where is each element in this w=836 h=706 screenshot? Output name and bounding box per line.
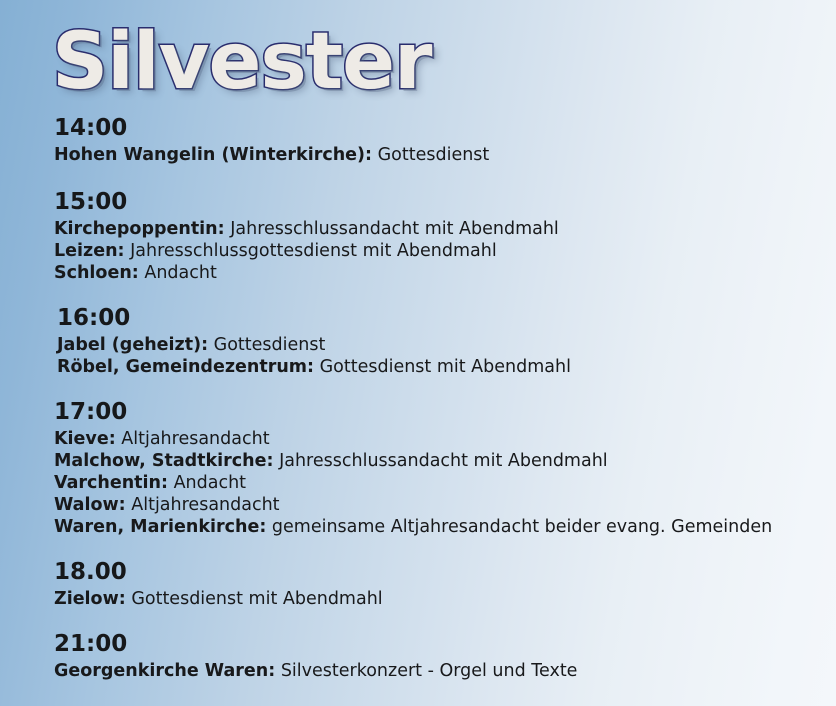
schedule-entry: Hohen Wangelin (Winterkirche): Gottesdie… xyxy=(54,144,836,166)
schedule-entry: Malchow, Stadtkirche: Jahresschlussandac… xyxy=(54,450,836,472)
schedule-entry: Zielow: Gottesdienst mit Abendmahl xyxy=(54,588,836,610)
entry-description: Gottesdienst mit Abendmahl xyxy=(314,357,571,377)
entry-description: Jahresschlussandacht mit Abendmahl xyxy=(225,219,559,239)
entry-description: Altjahresandacht xyxy=(126,495,280,515)
entry-description: Jahresschlussgottesdienst mit Abendmahl xyxy=(125,241,497,261)
schedule-entry: Walow: Altjahresandacht xyxy=(54,494,836,516)
schedule-entry: Kieve: Altjahresandacht xyxy=(54,428,836,450)
entry-description: Jahresschlussandacht mit Abendmahl xyxy=(274,451,608,471)
entry-description: Gottesdienst mit Abendmahl xyxy=(126,589,383,609)
entry-place: Varchentin: xyxy=(54,473,168,493)
time-heading: 21:00 xyxy=(54,630,836,659)
schedule-entry: Kirchepoppentin: Jahresschlussandacht mi… xyxy=(54,218,836,240)
entry-description: Altjahresandacht xyxy=(116,429,270,449)
entry-description: Andacht xyxy=(168,473,246,493)
schedule-entry: Schloen: Andacht xyxy=(54,262,836,284)
entry-place: Malchow, Stadtkirche: xyxy=(54,451,274,471)
schedule-entry: Waren, Marienkirche: gemeinsame Altjahre… xyxy=(54,516,836,538)
entry-place: Georgenkirche Waren: xyxy=(54,661,275,681)
entry-place: Hohen Wangelin (Winterkirche): xyxy=(54,145,372,165)
time-heading: 17:00 xyxy=(54,398,836,427)
page-title: Silvester xyxy=(52,14,431,110)
entry-place: Walow: xyxy=(54,495,126,515)
silvester-poster: Silvester 14:00 Hohen Wangelin (Winterki… xyxy=(0,0,836,706)
entry-description: gemeinsame Altjahresandacht beider evang… xyxy=(266,517,772,537)
entry-description: Gottesdienst xyxy=(372,145,489,165)
time-heading: 14:00 xyxy=(54,114,836,143)
entry-description: Andacht xyxy=(139,263,217,283)
entry-description: Silvesterkonzert - Orgel und Texte xyxy=(275,661,577,681)
schedule-entry: Röbel, Gemeindezentrum: Gottesdienst mit… xyxy=(57,356,836,378)
schedule-entry: Jabel (geheizt): Gottesdienst xyxy=(57,334,836,356)
poster-title-container: Silvester xyxy=(52,14,431,110)
service-schedule-list: 14:00 Hohen Wangelin (Winterkirche): Got… xyxy=(0,114,836,682)
schedule-block-2100: 21:00 Georgenkirche Waren: Silvesterkonz… xyxy=(0,630,836,682)
entry-description: Gottesdienst xyxy=(208,335,325,355)
schedule-entry: Georgenkirche Waren: Silvesterkonzert - … xyxy=(54,660,836,682)
entry-place: Jabel (geheizt): xyxy=(57,335,208,355)
time-heading: 15:00 xyxy=(54,188,836,217)
schedule-block-1800: 18.00 Zielow: Gottesdienst mit Abendmahl xyxy=(0,558,836,610)
entry-place: Zielow: xyxy=(54,589,126,609)
entry-place: Leizen: xyxy=(54,241,125,261)
entry-place: Kirchepoppentin: xyxy=(54,219,225,239)
entry-place: Röbel, Gemeindezentrum: xyxy=(57,357,314,377)
time-heading: 16:00 xyxy=(57,304,836,333)
entry-place: Waren, Marienkirche: xyxy=(54,517,266,537)
schedule-block-1700: 17:00 Kieve: Altjahresandacht Malchow, S… xyxy=(0,398,836,538)
schedule-block-1500: 15:00 Kirchepoppentin: Jahresschlussanda… xyxy=(0,188,836,284)
schedule-entry: Leizen: Jahresschlussgottesdienst mit Ab… xyxy=(54,240,836,262)
entry-place: Kieve: xyxy=(54,429,116,449)
time-heading: 18.00 xyxy=(54,558,836,587)
schedule-block-1400: 14:00 Hohen Wangelin (Winterkirche): Got… xyxy=(0,114,836,166)
schedule-block-1600: 16:00 Jabel (geheizt): Gottesdienst Röbe… xyxy=(0,304,836,378)
schedule-entry: Varchentin: Andacht xyxy=(54,472,836,494)
entry-place: Schloen: xyxy=(54,263,139,283)
